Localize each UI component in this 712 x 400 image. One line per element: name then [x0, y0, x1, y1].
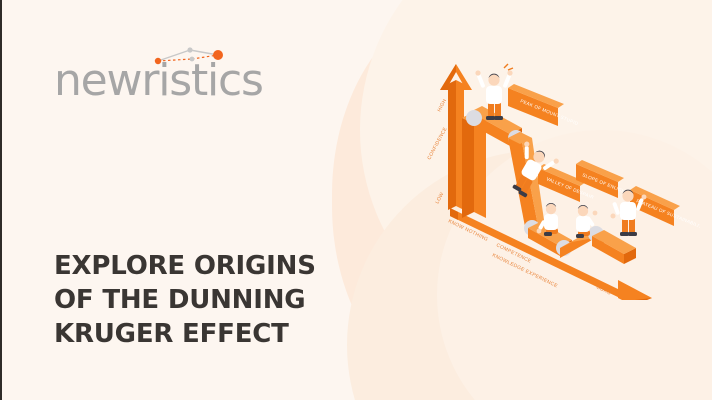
headline-line-1: EXPLORE ORIGINS — [54, 250, 354, 284]
page-title: EXPLORE ORIGINS OF THE DUNNING KRUGER EF… — [54, 250, 354, 351]
slide-canvas: newristics EXPLORE ORIGINS OF THE DUNNIN… — [0, 0, 712, 400]
brand-logo: newristics — [54, 45, 254, 105]
y-axis-tick-low: LOW — [434, 191, 445, 205]
headline-line-3: KRUGER EFFECT — [54, 318, 354, 352]
dunning-kruger-illustration: .axtxt { font-family: "Liberation Sans",… — [400, 50, 700, 300]
headline-line-2: OF THE DUNNING — [54, 284, 354, 318]
brand-wordmark: newristics — [54, 55, 263, 106]
sign-plateau-of-sustainability: PLATEAU OF SUSTAINABILITY — [630, 186, 700, 231]
y-axis-label: CONFIDENCE — [426, 126, 448, 161]
y-axis-tick-high: HIGH — [436, 98, 448, 113]
sign-peak-of-mount-stupid: PEAK OF MOUNT STUPID — [508, 84, 579, 126]
joint-node-peak-left — [466, 110, 482, 126]
